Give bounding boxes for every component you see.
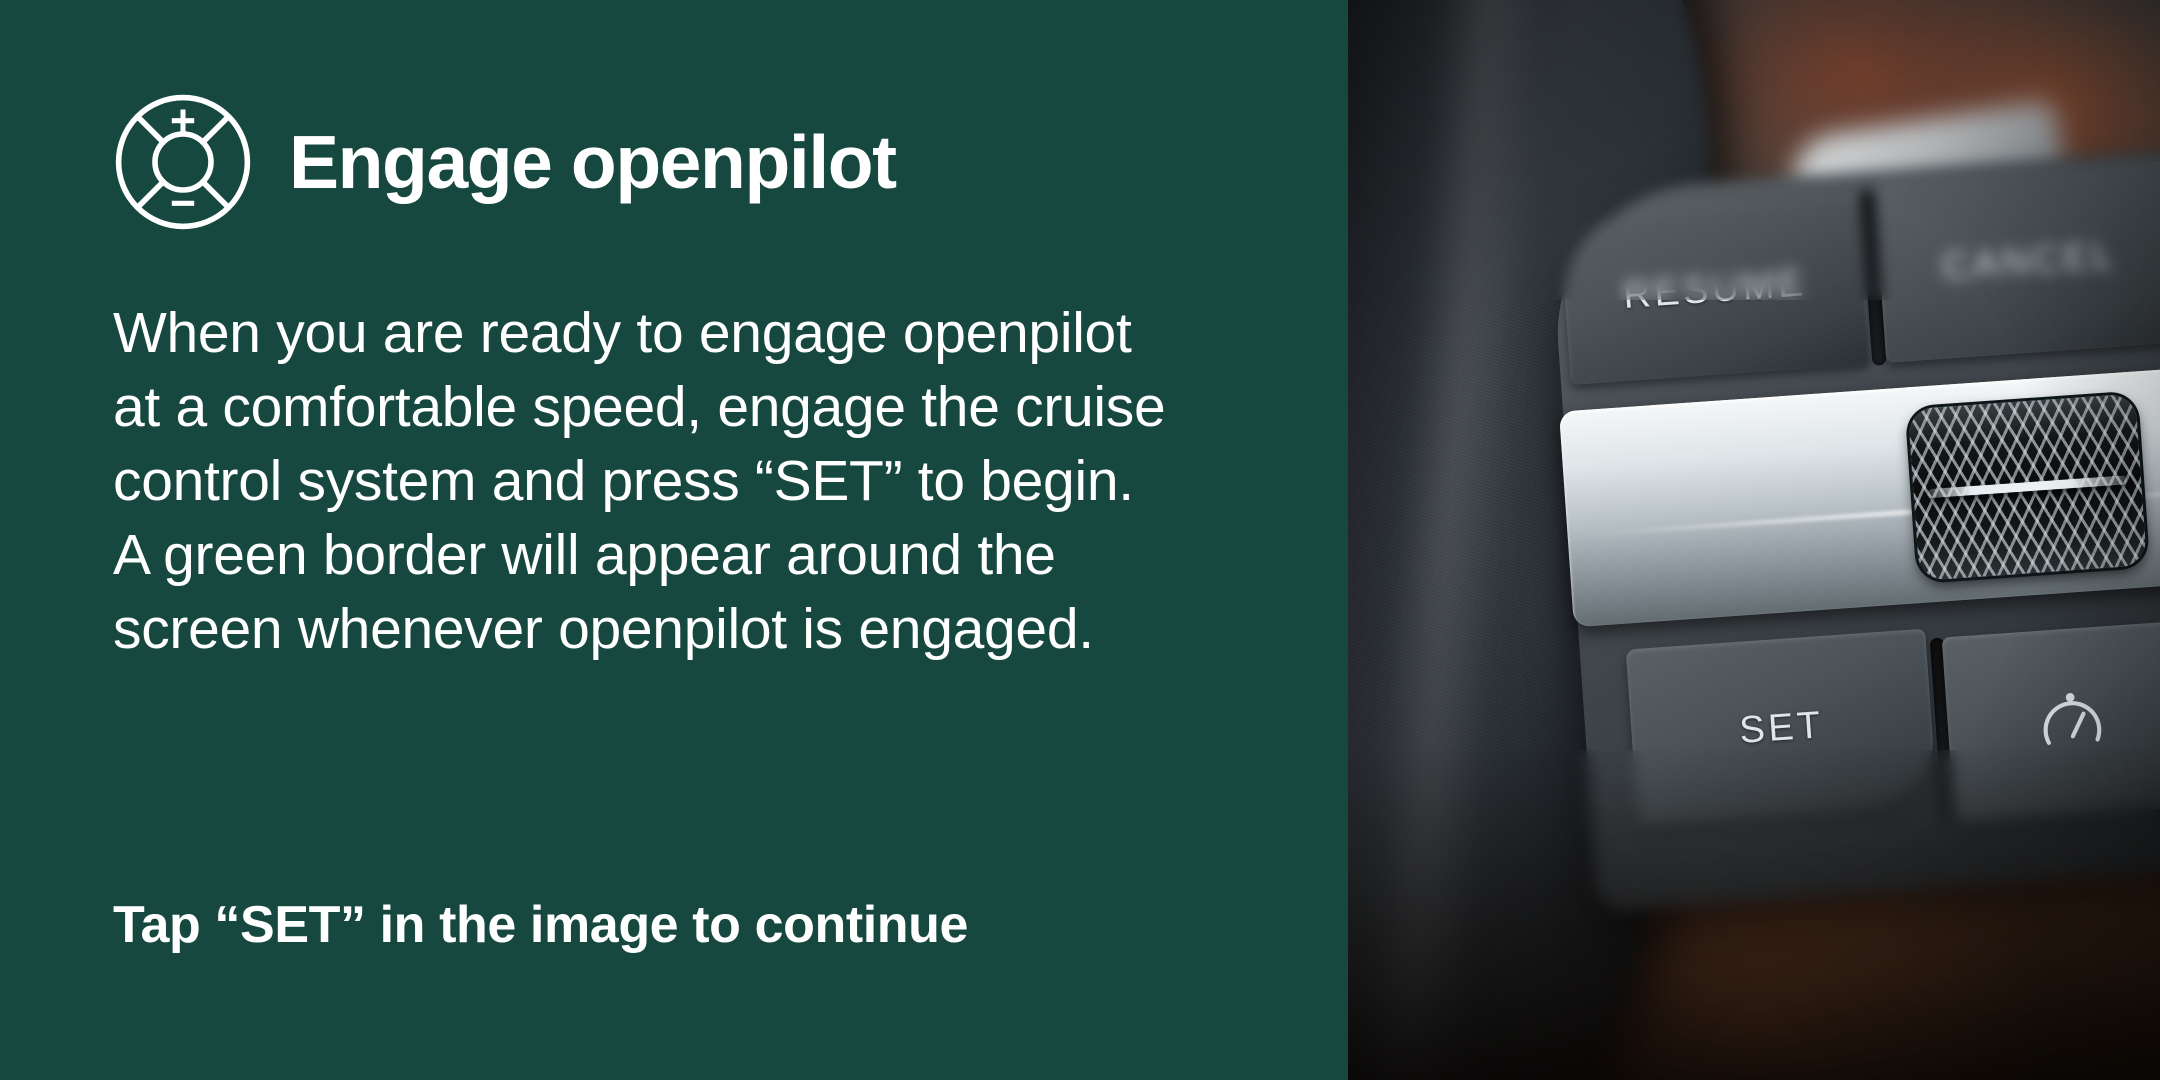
cruise-control-pod: RESUME CANCEL + − SET [1548,144,2160,912]
body-line: at a comfortable speed, engage the cruis… [113,370,1293,444]
set-button[interactable]: SET [1626,629,1938,827]
body-line: control system and press “SET” to begin. [113,444,1293,518]
cancel-button[interactable]: CANCEL [1874,160,2160,362]
instruction-panel: Engage openpilot When you are ready to e… [0,0,1348,1080]
call-to-action-text: Tap “SET” in the image to continue [113,895,968,955]
instruction-body: When you are ready to engage openpilot a… [113,296,1293,666]
page-title: Engage openpilot [289,125,896,200]
speed-limiter-gauge-icon [2030,680,2113,763]
distance-button[interactable] [1942,620,2160,823]
onboarding-screen: Engage openpilot When you are ready to e… [0,0,2160,1080]
steering-wheel-photo[interactable]: RESUME CANCEL + − SET [1348,0,2160,1080]
panel-header: Engage openpilot [113,92,896,232]
knurled-thumbwheel[interactable] [1908,394,2147,581]
body-line: screen whenever openpilot is engaged. [113,592,1293,666]
resume-button[interactable]: RESUME [1559,194,1870,385]
cruise-control-icon [113,92,253,232]
body-line: When you are ready to engage openpilot [113,296,1293,370]
body-line: A green border will appear around the [113,518,1293,592]
